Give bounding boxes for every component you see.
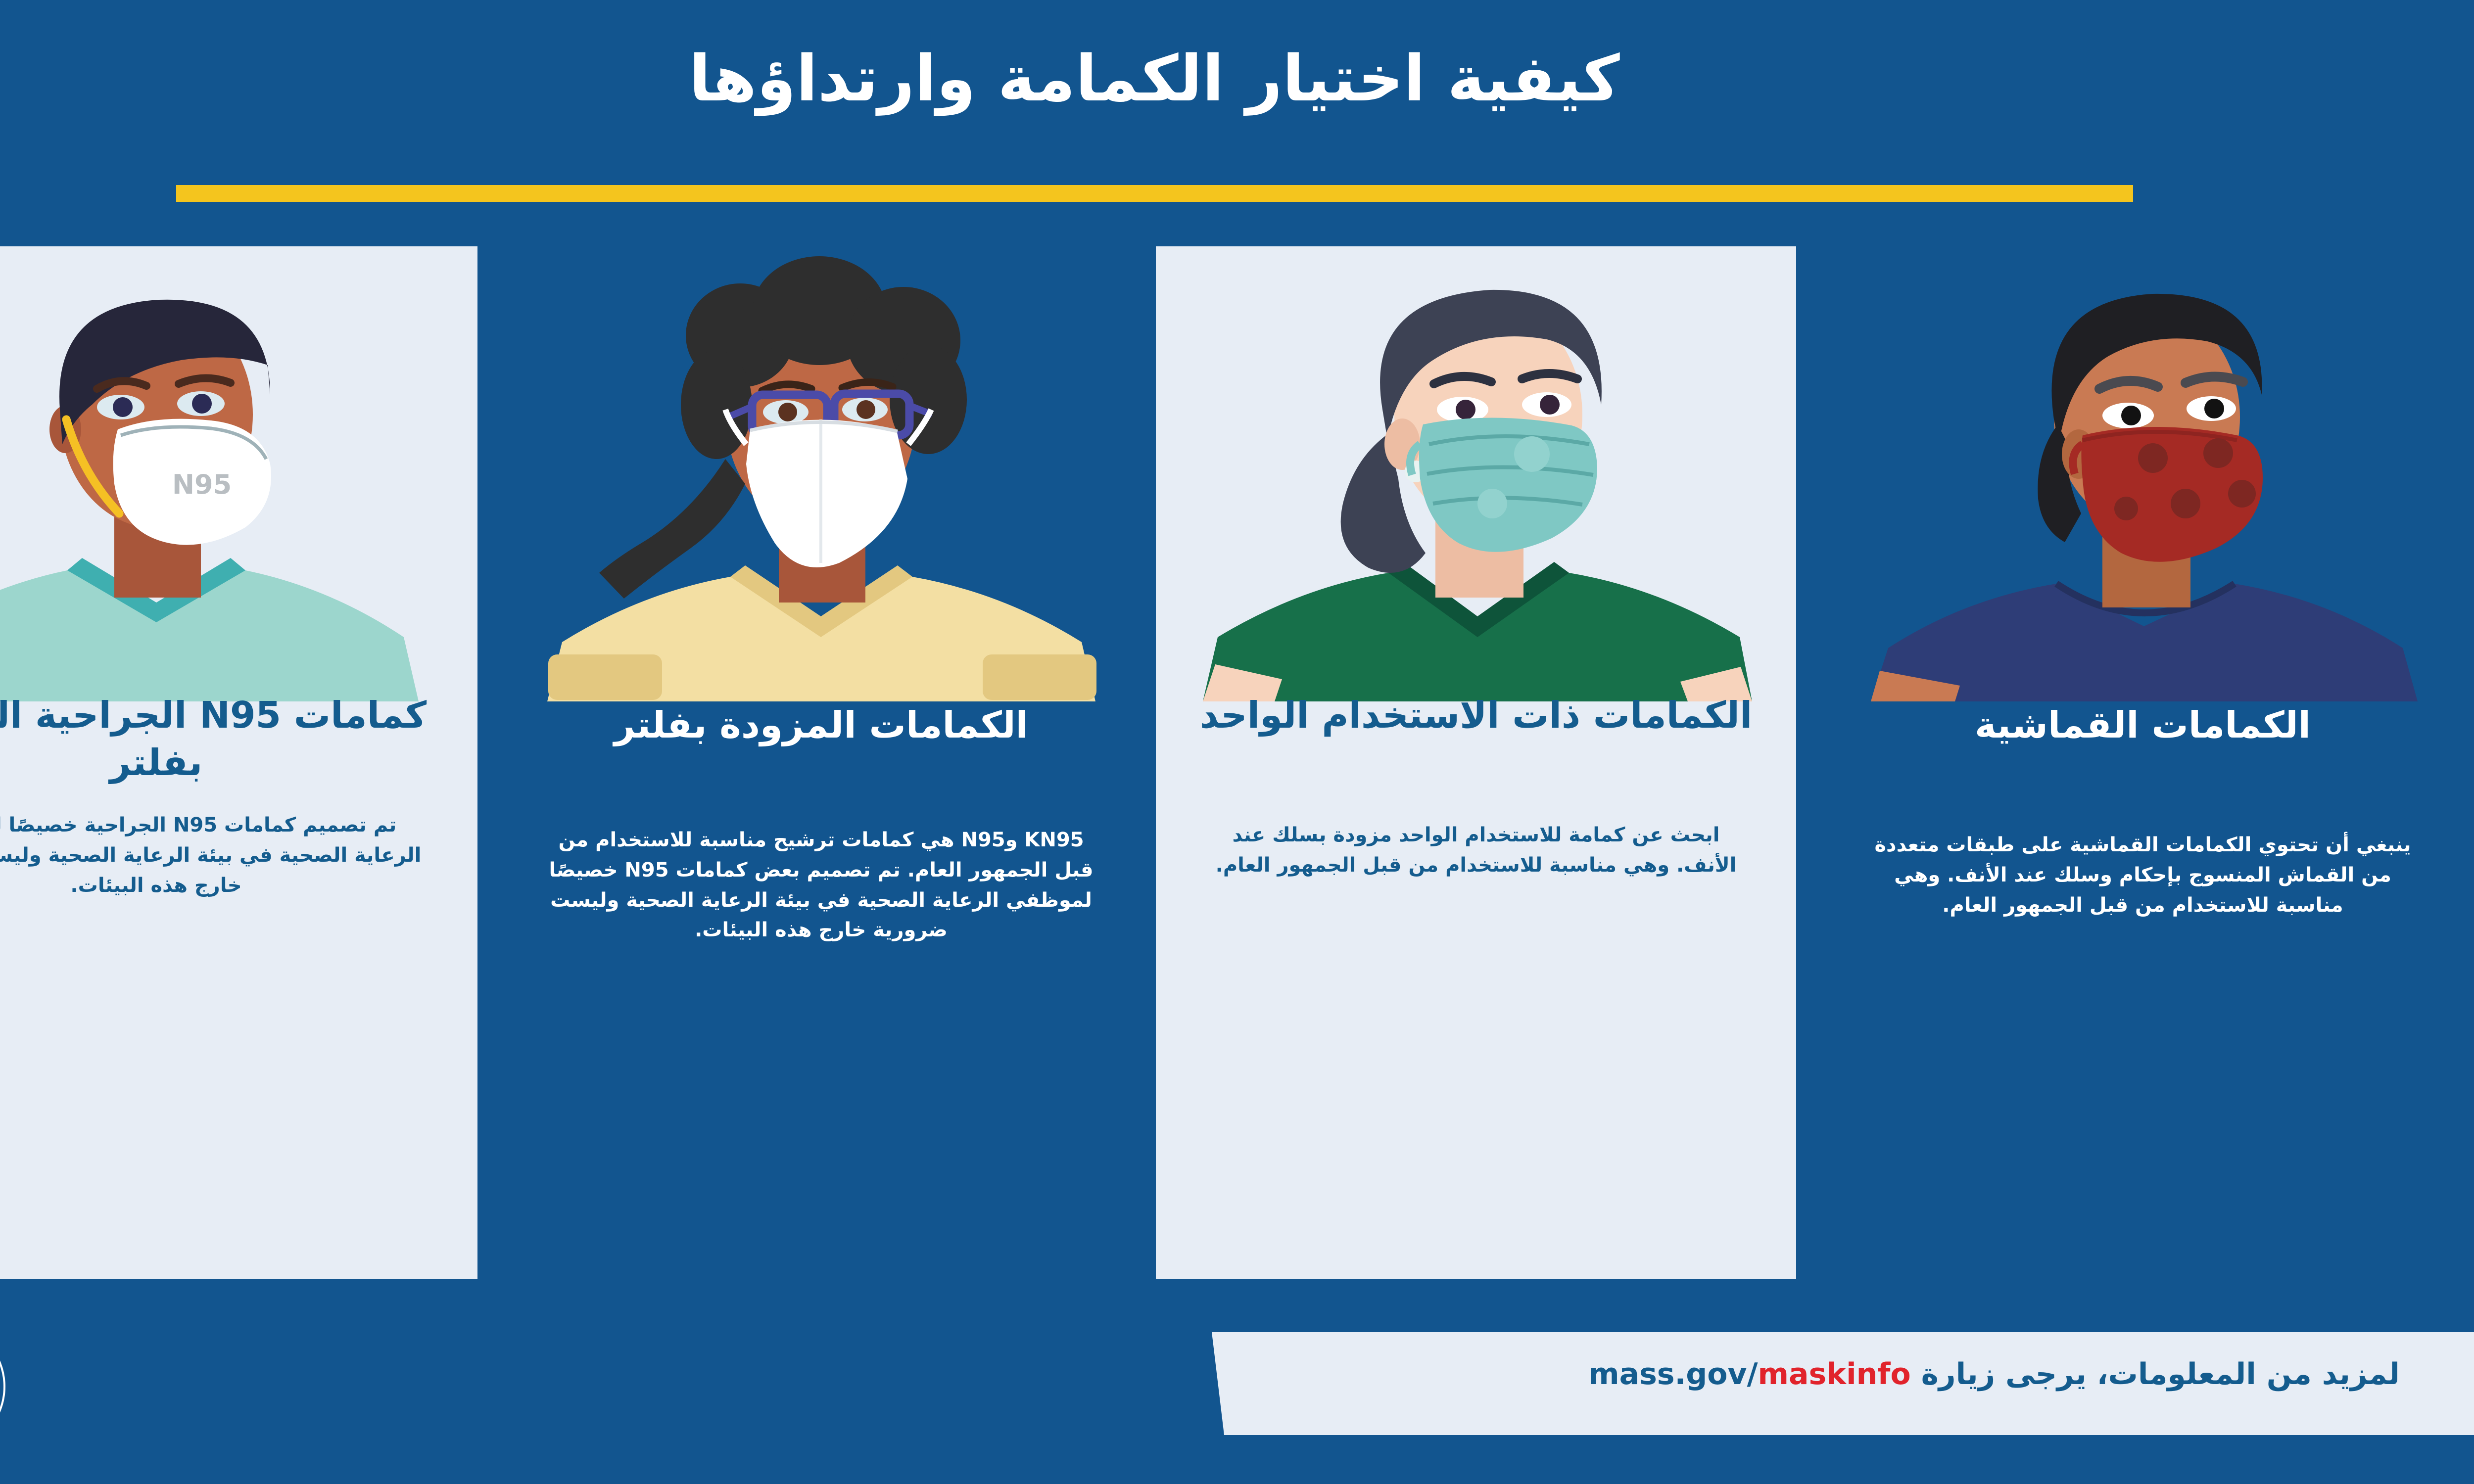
panel-body-text: KN95 وN95 هي كمامات ترشيح مناسبة للاستخد… — [542, 825, 1100, 945]
panel-body-text: ابحث عن كمامة للاستخدام الواحد مزودة بسل… — [1205, 820, 1747, 881]
panel-heading: الكمامات ذات الاستخدام الواحد — [1176, 692, 1776, 739]
footer-cta-text: لمزيد من المعلومات، يرجى زيارة mass.gov/… — [1262, 1357, 2400, 1391]
panel-heading: الكمامات القماشية — [1831, 701, 2454, 749]
footer-cta-banner: لمزيد من المعلومات، يرجى زيارة mass.gov/… — [1212, 1332, 2474, 1435]
illustration-person-n95-respirator: N95 — [0, 246, 477, 701]
panel-heading: الكمامات المزودة بفلتر — [513, 701, 1130, 749]
massachusetts-state-seal-logo: SIGILLUM REIPUBLICÆ MASSACHUSETTENSIS — [0, 1320, 7, 1453]
illustration-person-kn95-glasses — [493, 246, 1149, 701]
panel-body-text: ينبغي أن تحتوي الكمامات القماشية على طبق… — [1861, 830, 2425, 920]
panel-body-text: تم تصميم كمامات N95 الجراحية خصيصًا لموظ… — [0, 810, 428, 900]
panel-n95-surgical: N95 كمامات N95 الجراحية المزودة بفلتر تم… — [0, 246, 477, 1279]
footer-url-domain: mass.gov/ — [1588, 1357, 1758, 1391]
footer-cta-prefix: لمزيد من المعلومات، يرجى زيارة — [1911, 1357, 2400, 1391]
panel-cloth-masks: الكمامات القماشية ينبغي أن تحتوي الكماما… — [1811, 246, 2474, 1279]
page-title: كيفية اختيار الكمامة وارتداؤها — [0, 45, 2474, 114]
footer-url-path: maskinfo — [1758, 1357, 1910, 1391]
panel-disposable-masks: الكمامات ذات الاستخدام الواحد ابحث عن كم… — [1156, 246, 1796, 1279]
title-underline-rule — [176, 185, 2133, 202]
panel-heading: كمامات N95 الجراحية المزودة بفلتر — [0, 692, 458, 787]
panel-filtration-kn95: الكمامات المزودة بفلتر KN95 وN95 هي كمام… — [493, 246, 1149, 1279]
illustration-person-disposable-surgical-mask — [1156, 246, 1796, 701]
footer-url[interactable]: mass.gov/maskinfo — [1588, 1357, 1911, 1391]
illustration-person-cloth-polkadot-mask — [1811, 246, 2474, 701]
respirator-mask-label: N95 — [172, 469, 232, 500]
